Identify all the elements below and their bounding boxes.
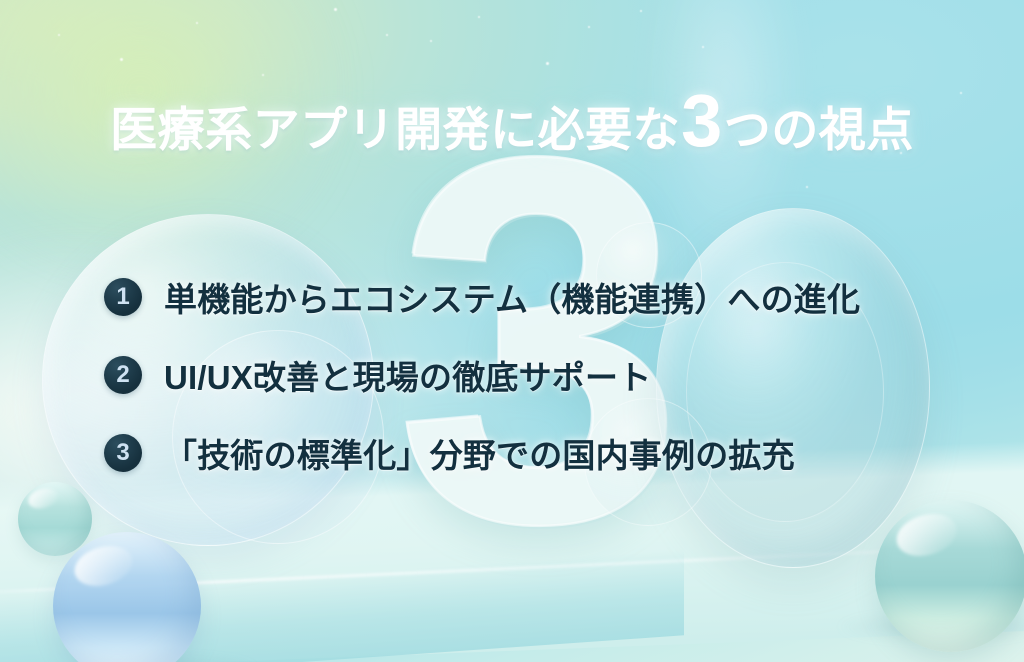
- large-teal-sphere: [875, 500, 1024, 652]
- poster-canvas: 3 医療系アプリ開発に必要な 3 つの視点 1 単機能からエコシステム（機能連携…: [0, 0, 1024, 662]
- list-item-label: 「技術の標準化」分野での国内事例の拡充: [164, 429, 795, 477]
- title-big-number: 3: [681, 84, 723, 158]
- sparkle-icon: [58, 34, 60, 36]
- sparkle-icon: [702, 46, 704, 48]
- sparkle-icon: [806, 186, 808, 188]
- sparkle-icon: [640, 10, 642, 12]
- sparkle-icon: [478, 16, 480, 18]
- title-lead: 医療系アプリ開発に必要な: [110, 106, 680, 153]
- sparkle-icon: [588, 26, 590, 28]
- sparkle-icon: [262, 74, 264, 76]
- list-item-label: 単機能からエコシステム（機能連携）への進化: [164, 273, 860, 321]
- sparkle-icon: [196, 22, 198, 24]
- list-item-label: UI/UX改善と現場の徹底サポート: [164, 351, 651, 399]
- list-item[interactable]: 3 「技術の標準化」分野での国内事例の拡充: [104, 414, 934, 492]
- badge-number-2: 2: [104, 356, 142, 394]
- sparkle-icon: [120, 58, 123, 61]
- badge-number-1: 1: [104, 278, 142, 316]
- sparkle-icon: [334, 8, 337, 11]
- small-mint-sphere: [18, 482, 92, 556]
- list-item[interactable]: 1 単機能からエコシステム（機能連携）への進化: [104, 258, 934, 336]
- page-title: 医療系アプリ開発に必要な 3 つの視点: [0, 84, 1024, 158]
- sparkle-icon: [386, 34, 388, 36]
- points-list: 1 単機能からエコシステム（機能連携）への進化 2 UI/UX改善と現場の徹底サ…: [104, 258, 934, 492]
- badge-number-3: 3: [104, 434, 142, 472]
- sparkle-icon: [430, 40, 432, 42]
- list-item[interactable]: 2 UI/UX改善と現場の徹底サポート: [104, 336, 934, 414]
- title-tail: つの視点: [724, 106, 914, 153]
